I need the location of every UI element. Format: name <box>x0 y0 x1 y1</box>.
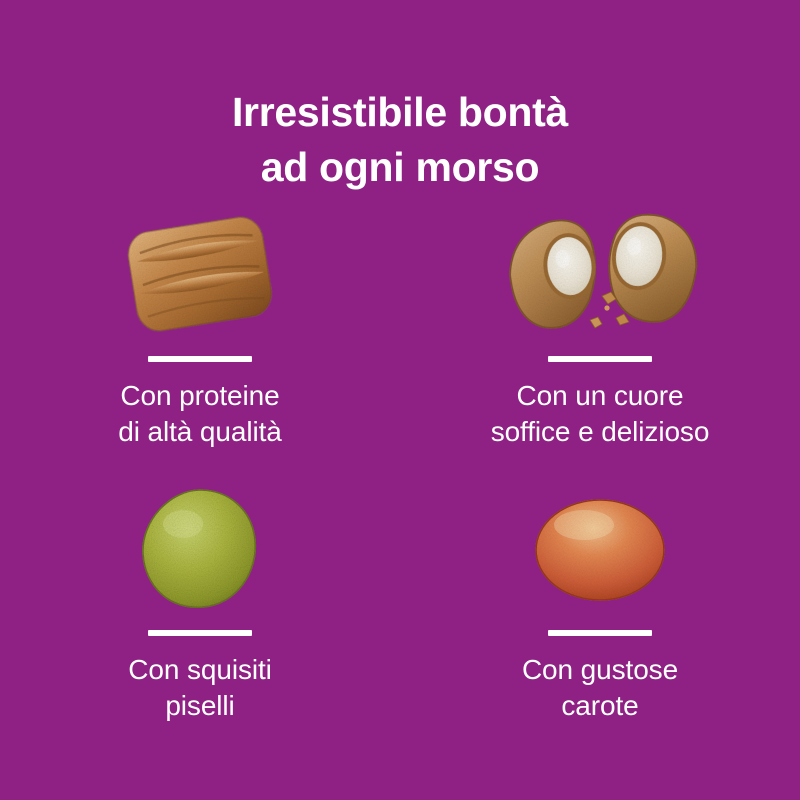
feature-grid: Con proteine di altà qualità <box>0 200 800 760</box>
headline-line-2: ad ogni morso <box>0 140 800 194</box>
feature-item-proteine: Con proteine di altà qualità <box>0 200 400 480</box>
caption-line-2: di altà qualità <box>118 414 282 450</box>
feature-item-piselli: Con squisiti piselli <box>0 480 400 760</box>
caption-line-1: Con un cuore <box>491 378 710 414</box>
caption-line-2: carote <box>522 688 678 724</box>
feature-item-cuore-soffice: Con un cuore soffice e delizioso <box>400 200 800 480</box>
caption-line-1: Con gustose <box>522 652 678 688</box>
feature-divider <box>548 356 652 362</box>
feature-divider <box>548 630 652 636</box>
split-kibble-with-soft-center-image <box>485 200 715 350</box>
page-title: Irresistibile bontà ad ogni morso <box>0 85 800 193</box>
feature-divider <box>148 356 252 362</box>
feature-caption: Con squisiti piselli <box>128 652 272 725</box>
headline-line-1: Irresistibile bontà <box>0 85 800 139</box>
caption-line-2: soffice e delizioso <box>491 414 710 450</box>
feature-caption: Con gustose carote <box>522 652 678 725</box>
green-pea-kibble-image <box>85 480 315 620</box>
orange-carrot-kibble-image <box>485 480 715 620</box>
poster: Irresistibile bontà ad ogni morso <box>0 0 800 800</box>
caption-line-2: piselli <box>128 688 272 724</box>
feature-divider <box>148 630 252 636</box>
feature-item-carote: Con gustose carote <box>400 480 800 760</box>
brown-ridged-kibble-image <box>85 200 315 350</box>
caption-line-1: Con proteine <box>118 378 282 414</box>
feature-caption: Con proteine di altà qualità <box>118 378 282 451</box>
feature-caption: Con un cuore soffice e delizioso <box>491 378 710 451</box>
caption-line-1: Con squisiti <box>128 652 272 688</box>
